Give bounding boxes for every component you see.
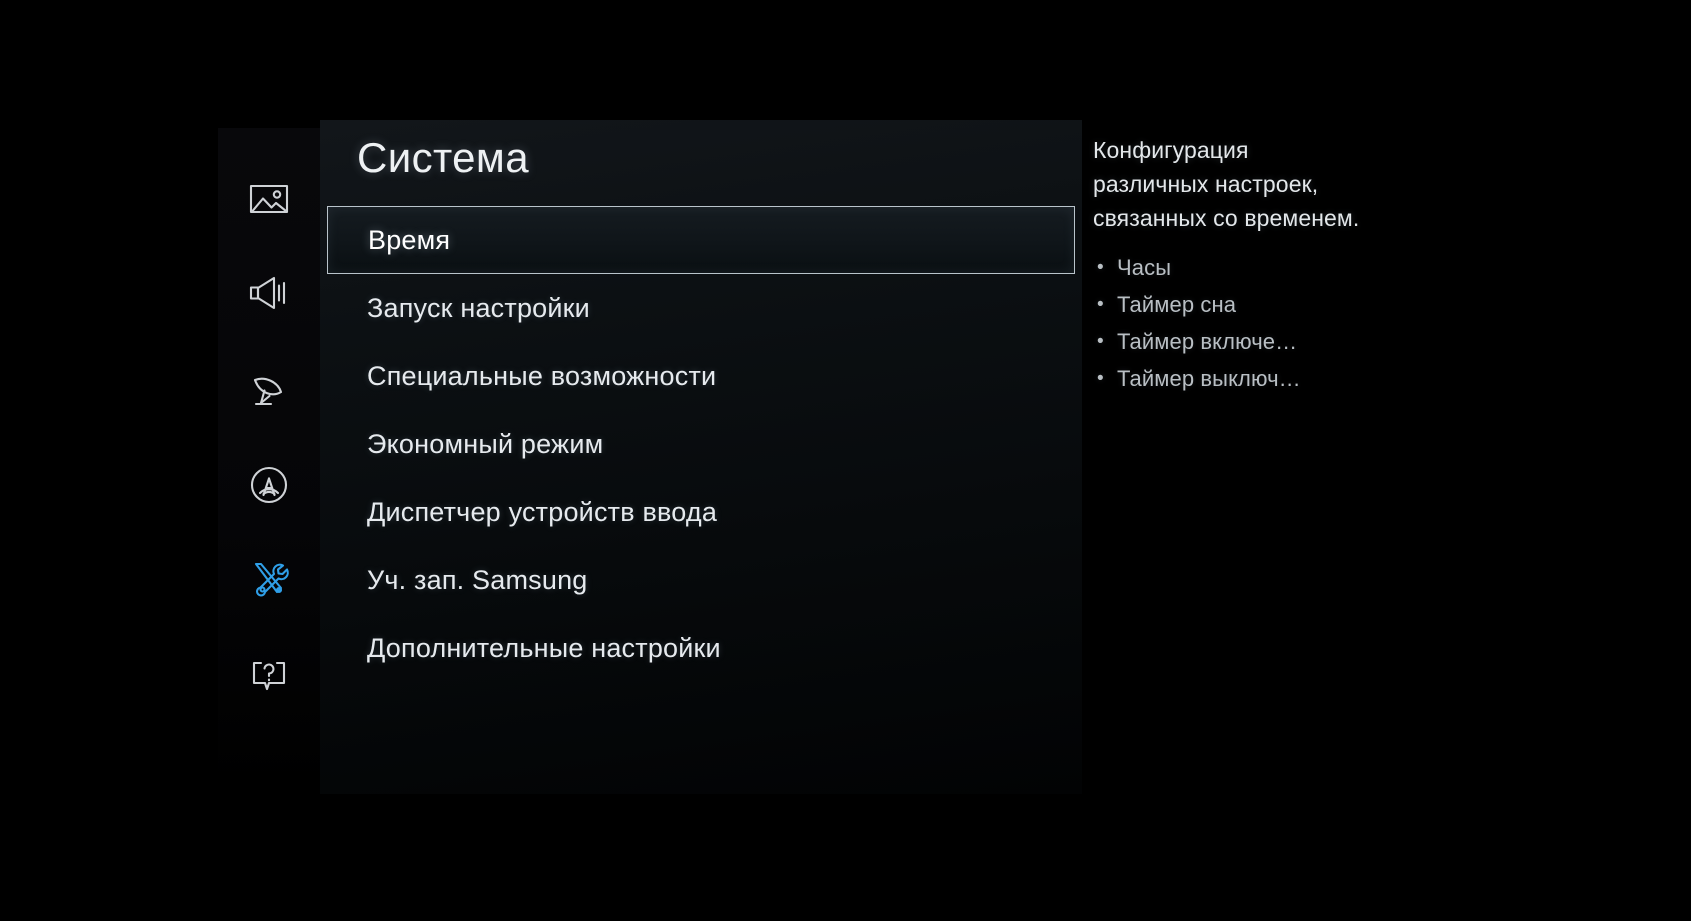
menu-item-label: Время [368,225,450,256]
menu-item-time[interactable]: Время [327,206,1075,274]
sidebar-item-broadcast-dish[interactable] [218,354,320,428]
sound-icon [246,270,292,316]
help-bullet-item: Таймер включе… [1117,323,1393,360]
settings-panel: Система Время Запуск настройки Специальн… [320,120,1082,794]
menu-item-setup-start[interactable]: Запуск настройки [320,274,1082,342]
menu-item-label: Диспетчер устройств ввода [367,497,717,528]
help-description: Конфигурация различных настроек, связанн… [1093,133,1361,235]
menu-item-label: Специальные возможности [367,361,716,392]
settings-menu-list: Время Запуск настройки Специальные возмо… [320,206,1082,682]
tv-settings-screen: Система Время Запуск настройки Специальн… [0,0,1691,921]
menu-item-label: Уч. зап. Samsung [367,565,588,596]
sidebar-item-network[interactable] [218,448,320,522]
picture-icon [246,176,292,222]
help-panel: Конфигурация различных настроек, связанн… [1093,133,1393,397]
menu-item-eco-mode[interactable]: Экономный режим [320,410,1082,478]
help-bullet-item: Часы [1117,249,1393,286]
sidebar-item-picture[interactable] [218,162,320,236]
menu-item-label: Экономный режим [367,429,603,460]
menu-item-input-device-manager[interactable]: Диспетчер устройств ввода [320,478,1082,546]
page-title: Система [357,134,529,182]
satellite-dish-icon [246,368,292,414]
help-bullet-item: Таймер выключ… [1117,360,1393,397]
help-bubble-icon [246,652,292,698]
sidebar-item-sound[interactable] [218,256,320,330]
help-bullet-item: Таймер сна [1117,286,1393,323]
tools-icon [246,556,292,602]
menu-item-label: Запуск настройки [367,293,590,324]
menu-item-accessibility[interactable]: Специальные возможности [320,342,1082,410]
sidebar-rail [218,128,320,792]
menu-item-label: Дополнительные настройки [367,633,721,664]
sidebar-item-support[interactable] [218,638,320,712]
help-bullet-list: Часы Таймер сна Таймер включе… Таймер вы… [1093,249,1393,397]
menu-item-more-settings[interactable]: Дополнительные настройки [320,614,1082,682]
broadcast-tower-icon [246,462,292,508]
sidebar-item-system[interactable] [218,542,320,616]
menu-item-samsung-account[interactable]: Уч. зап. Samsung [320,546,1082,614]
